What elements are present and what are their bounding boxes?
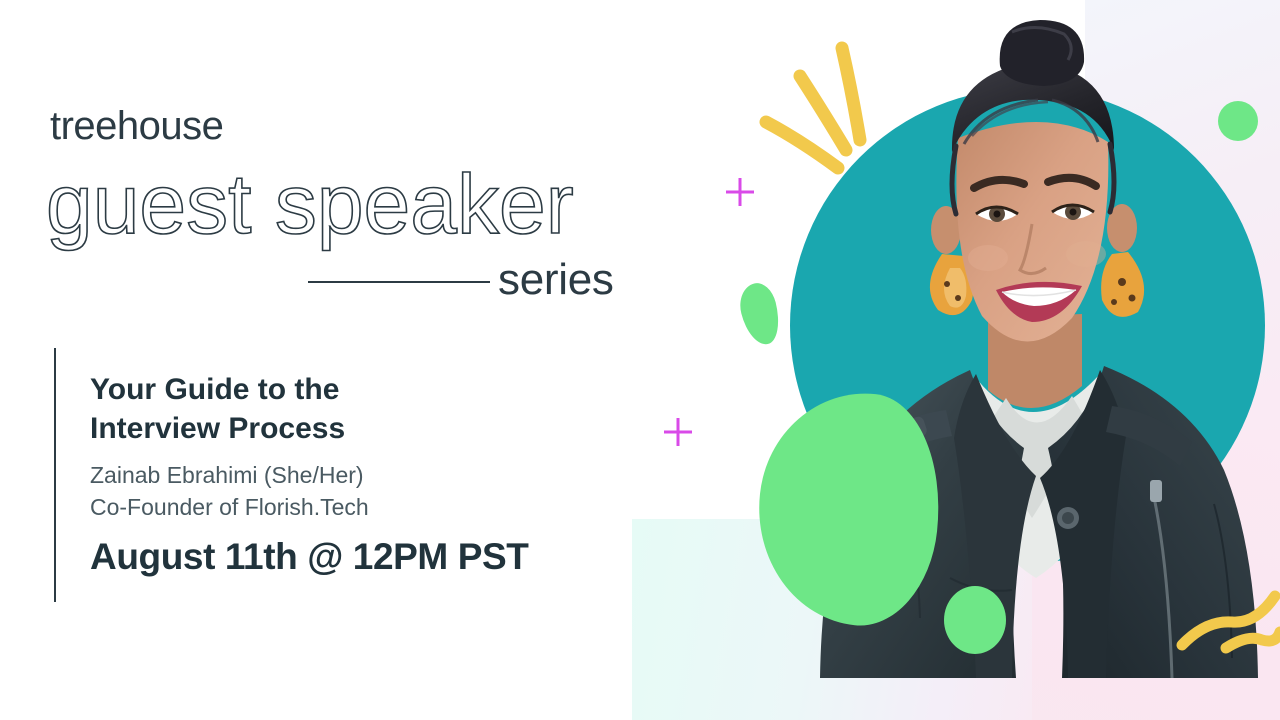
plus-mark-upper — [726, 178, 754, 206]
headline-guest-speaker: guest speaker — [46, 160, 574, 248]
green-circle-bottom — [944, 586, 1006, 654]
session-title: Your Guide to the Interview Process — [90, 370, 610, 448]
series-divider-rule — [308, 281, 490, 283]
plus-mark-lower — [664, 418, 692, 446]
vertical-accent-rule — [54, 348, 56, 602]
speaker-role: Co-Founder of Florish.Tech — [90, 494, 369, 521]
event-datetime: August 11th @ 12PM PST — [90, 536, 528, 578]
series-label: series — [498, 255, 614, 305]
green-blob-small — [735, 280, 785, 349]
brand-wordmark: treehouse — [50, 104, 223, 149]
speaker-name: Zainab Ebrahimi (She/Her) — [90, 462, 364, 489]
guest-speaker-promo-graphic: treehouse guest speaker series Your Guid… — [0, 0, 1280, 720]
